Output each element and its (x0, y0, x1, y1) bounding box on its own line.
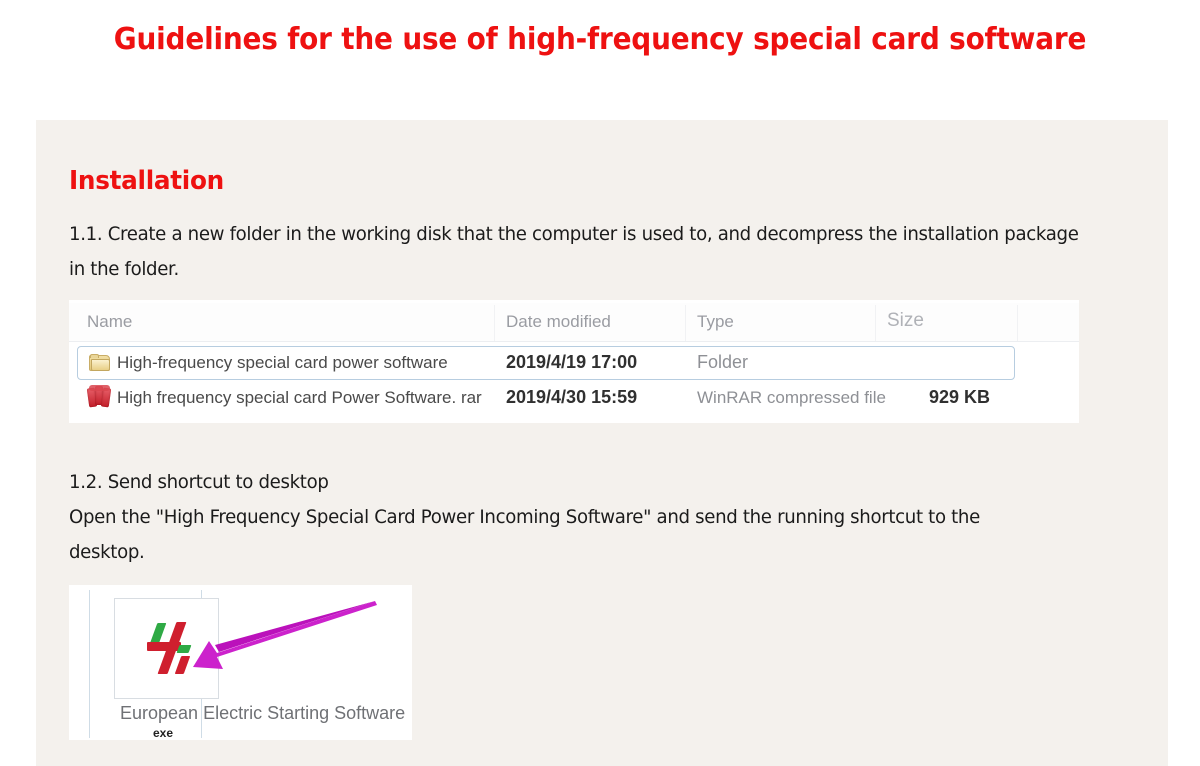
column-separator (1017, 305, 1018, 341)
desktop-icon-extension: exe (153, 726, 173, 740)
column-header-type[interactable]: Type (697, 312, 734, 332)
step-1-2-text: Open the "High Frequency Special Card Po… (69, 500, 1043, 570)
cell-type: Folder (697, 352, 748, 373)
cell-date-modified: 2019/4/19 17:00 (506, 352, 637, 373)
desktop-icon-caption: European Electric Starting Software (120, 703, 405, 724)
cell-date-modified: 2019/4/30 15:59 (506, 387, 637, 408)
column-header-size[interactable]: Size (887, 310, 924, 332)
step-1-1-text: 1.1. Create a new folder in the working … (69, 217, 1086, 287)
winrar-archive-icon (88, 384, 112, 408)
column-separator (685, 305, 686, 341)
section-heading-installation: Installation (69, 166, 224, 196)
cell-name: High-frequency special card power softwa… (117, 353, 448, 373)
file-explorer-screenshot: Name Date modified Type Size High-freque… (69, 300, 1079, 423)
step-1-2-title: 1.2. Send shortcut to desktop (69, 465, 329, 500)
column-header-name[interactable]: Name (87, 312, 132, 332)
folder-icon (89, 354, 111, 372)
content-card: Installation 1.1. Create a new folder in… (36, 120, 1168, 766)
cell-name: High frequency special card Power Softwa… (117, 388, 482, 408)
cell-size: 929 KB (929, 387, 990, 408)
column-separator (875, 305, 876, 341)
explorer-column-header-row: Name Date modified Type Size (69, 303, 1079, 342)
column-separator (494, 305, 495, 341)
magenta-arrow-icon (179, 595, 379, 680)
cell-type: WinRAR compressed file (697, 388, 886, 408)
table-row[interactable]: High frequency special card Power Softwa… (69, 381, 1079, 416)
desktop-shortcut-screenshot: European Electric Starting Software exe (69, 585, 412, 740)
table-row[interactable]: High-frequency special card power softwa… (69, 346, 1079, 381)
column-header-date-modified[interactable]: Date modified (506, 312, 611, 332)
page-title: Guidelines for the use of high-frequency… (42, 22, 1158, 57)
